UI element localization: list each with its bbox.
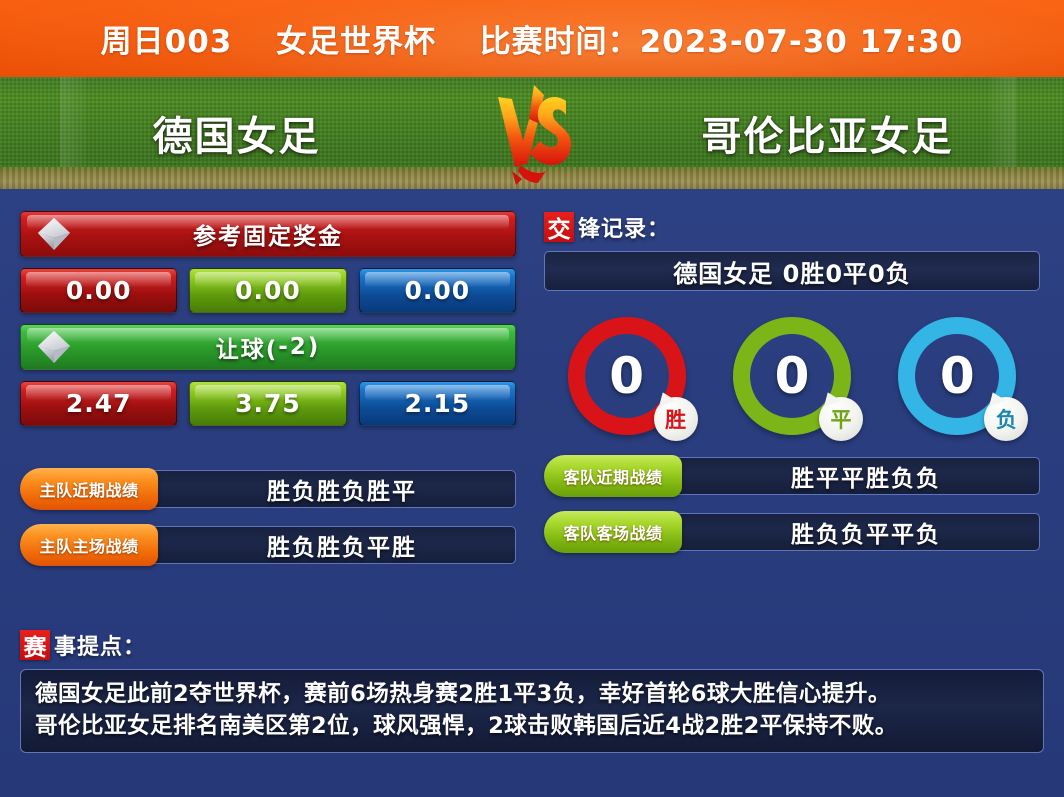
handicap-label-suffix: )	[308, 334, 321, 360]
home-home-form-value: 胜负胜负平胜	[138, 526, 516, 564]
vs-flame-icon	[473, 77, 591, 189]
handicap-odds-row: 2.47 3.75 2.15	[20, 381, 516, 426]
away-recent-form-row: 客队近期战绩 胜平平胜负负	[544, 455, 1040, 497]
home-recent-form-value: 胜负胜负胜平	[138, 470, 516, 508]
home-team-name: 德国女足	[0, 104, 473, 162]
kickoff-time: 2023-07-30 17:30	[640, 24, 964, 60]
home-home-form-row: 主队主场战绩 胜负胜负平胜	[20, 524, 516, 566]
tips-line-home: 德国女足此前2夺世界杯，赛前6场热身赛2胜1平3负，幸好首轮6球大胜信心提升。	[35, 678, 1029, 710]
h2h-ring-draw: 0 平	[733, 317, 851, 435]
match-number: 周日003	[101, 24, 233, 60]
handicap-value: -2	[278, 334, 308, 360]
tips-section: 赛 事提点： 德国女足此前2夺世界杯，赛前6场热身赛2胜1平3负，幸好首轮6球大…	[20, 629, 1044, 753]
competition-name: 女足世界杯	[276, 24, 436, 60]
home-recent-form-row: 主队近期战绩 胜负胜负胜平	[20, 468, 516, 510]
fixed-prize-label: 参考固定奖金	[193, 217, 343, 251]
handicap-banner: 让球(-2)	[20, 324, 516, 370]
away-away-form-row: 客队客场战绩 胜负负平平负	[544, 511, 1040, 553]
teams-band: 德国女足 哥伦比亚女足	[0, 77, 1064, 189]
home-recent-form-label: 主队近期战绩	[20, 468, 158, 510]
body-area: 参考固定奖金 0.00 0.00 0.00 让球(-2) 2.47 3.75 2…	[0, 189, 1064, 566]
h2h-draw-badge: 平	[819, 397, 863, 441]
tips-section-header: 赛 事提点：	[20, 629, 1044, 661]
tips-header-badge: 赛	[20, 630, 50, 660]
h2h-header-badge: 交	[544, 212, 574, 242]
fixed-odds-row: 0.00 0.00 0.00	[20, 268, 516, 313]
h2h-rings: 0 胜 0 平 0 负	[544, 311, 1040, 441]
fixed-odd-win[interactable]: 0.00	[20, 268, 177, 313]
handicap-odd-win[interactable]: 2.47	[20, 381, 177, 426]
fixed-prize-banner: 参考固定奖金	[20, 211, 516, 257]
tips-header-text: 事提点：	[54, 629, 146, 661]
h2h-summary: 德国女足 0胜0平0负	[544, 251, 1040, 291]
h2h-header-text: 锋记录：	[578, 211, 670, 243]
h2h-ring-win: 0 胜	[568, 317, 686, 435]
fixed-odd-draw[interactable]: 0.00	[189, 268, 346, 313]
handicap-label-prefix: 让球(	[216, 330, 279, 364]
h2h-ring-lose: 0 负	[898, 317, 1016, 435]
header-title: 周日003 女足世界杯 比赛时间：2023-07-30 17:30	[101, 16, 964, 61]
kickoff-label: 比赛时间：	[480, 24, 640, 60]
h2h-section-header: 交 锋记录：	[544, 211, 1040, 243]
home-home-form-label: 主队主场战绩	[20, 524, 158, 566]
diamond-icon	[35, 328, 73, 366]
away-recent-form-value: 胜平平胜负负	[662, 457, 1040, 495]
handicap-odd-lose[interactable]: 2.15	[359, 381, 516, 426]
tips-line-away: 哥伦比亚女足排名南美区第2位，球风强悍，2球击败韩国后近4战2胜2平保持不败。	[35, 710, 1029, 742]
h2h-win-badge: 胜	[654, 397, 698, 441]
diamond-icon	[35, 215, 73, 253]
away-recent-form-label: 客队近期战绩	[544, 455, 682, 497]
fixed-odd-lose[interactable]: 0.00	[359, 268, 516, 313]
header-bar: 周日003 女足世界杯 比赛时间：2023-07-30 17:30	[0, 0, 1064, 77]
away-team-name: 哥伦比亚女足	[591, 104, 1064, 162]
h2h-lose-badge: 负	[984, 397, 1028, 441]
away-away-form-value: 胜负负平平负	[662, 513, 1040, 551]
odds-column: 参考固定奖金 0.00 0.00 0.00 让球(-2) 2.47 3.75 2…	[20, 211, 516, 566]
handicap-odd-draw[interactable]: 3.75	[189, 381, 346, 426]
away-away-form-label: 客队客场战绩	[544, 511, 682, 553]
h2h-column: 交 锋记录： 德国女足 0胜0平0负 0 胜 0 平 0 负	[544, 211, 1040, 566]
tips-box: 德国女足此前2夺世界杯，赛前6场热身赛2胜1平3负，幸好首轮6球大胜信心提升。 …	[20, 669, 1044, 753]
match-preview-page: 周日003 女足世界杯 比赛时间：2023-07-30 17:30 德国女足	[0, 0, 1064, 797]
